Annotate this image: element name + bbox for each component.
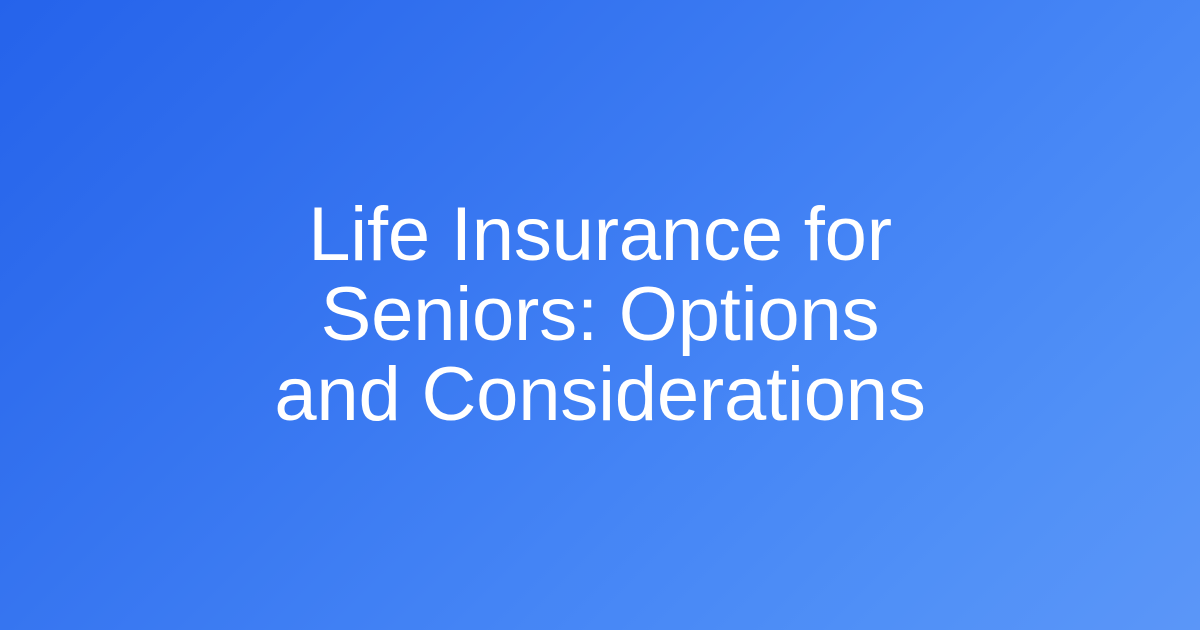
banner-title: Life Insurance for Seniors: Options and …	[250, 195, 950, 435]
banner-content: Life Insurance for Seniors: Options and …	[230, 195, 970, 435]
social-share-banner: Life Insurance for Seniors: Options and …	[0, 0, 1200, 630]
